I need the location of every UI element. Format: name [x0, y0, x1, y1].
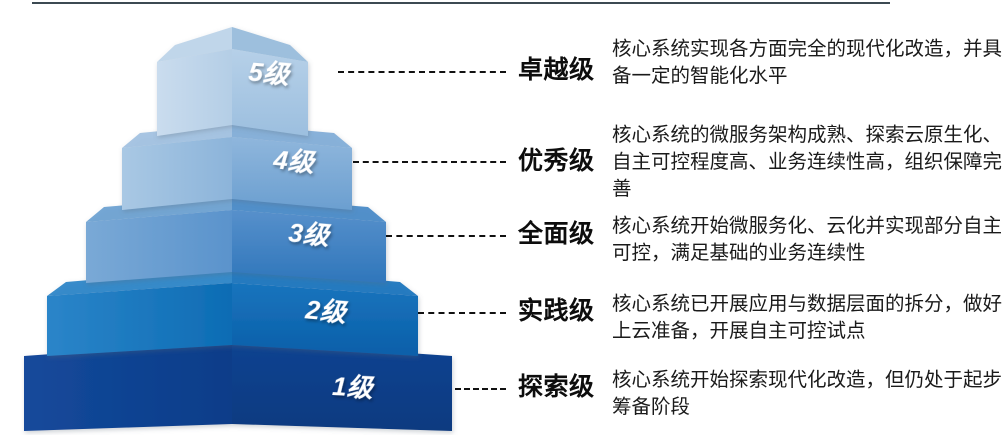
connector-line-5	[338, 71, 506, 73]
connector-line-2	[418, 312, 506, 314]
rank-label-4: 优秀级	[518, 148, 595, 176]
rank-description-1: 核心系统开始探索现代化改造，但仍处于起步筹备阶段	[612, 367, 1007, 421]
rank-label-3: 全面级	[518, 221, 595, 249]
rank-label-1: 探索级	[518, 374, 595, 402]
connector-line-1	[455, 388, 506, 390]
legend-rows: 卓越级 核心系统实现各方面完全的现代化改造，并具备一定的智能化水平 优秀级 核心…	[0, 0, 1007, 435]
rank-description-3: 核心系统开始微服务化、云化并实现部分自主可控，满足基础的业务连续性	[612, 213, 1007, 267]
rank-label-2: 实践级	[518, 298, 595, 326]
rank-description-4: 核心系统的微服务架构成熟、探索云原生化、自主可控程度高、业务连续性高，组织保障完…	[612, 122, 1007, 203]
connector-line-4	[353, 161, 506, 163]
slide-canvas: 5级 4级 3级 2级 1级 卓越级 核心系统实现各方面完全的现代化改造，并具备…	[0, 0, 1007, 435]
connector-line-3	[386, 235, 506, 237]
rank-description-2: 核心系统已开展应用与数据层面的拆分，做好上云准备，开展自主可控试点	[612, 291, 1007, 345]
rank-description-5: 核心系统实现各方面完全的现代化改造，并具备一定的智能化水平	[612, 36, 1007, 90]
rank-label-5: 卓越级	[518, 57, 595, 85]
